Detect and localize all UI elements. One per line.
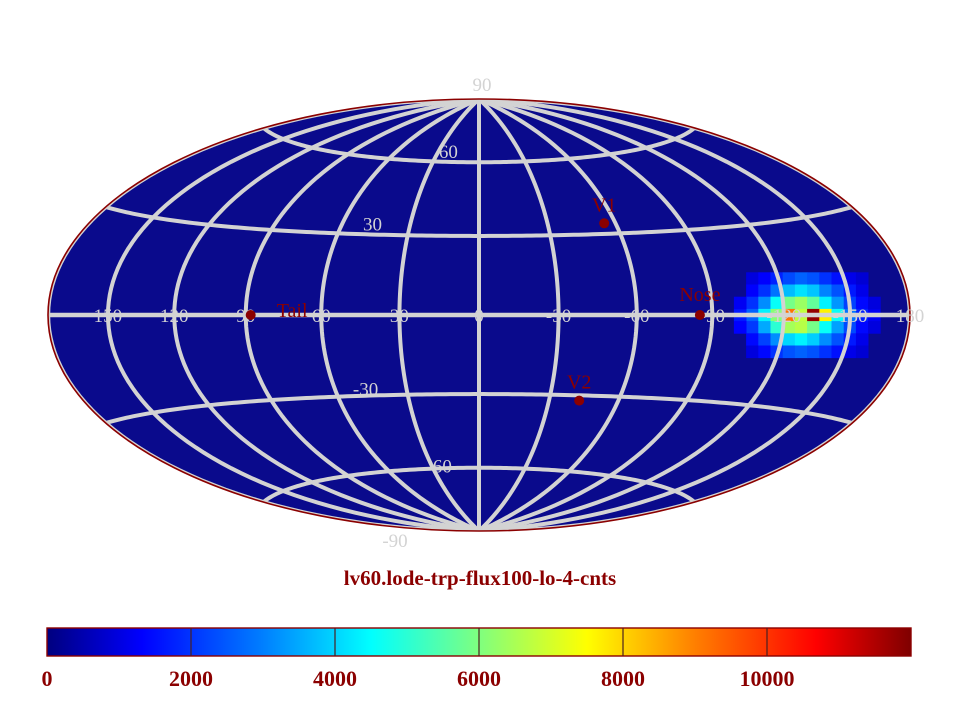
heatmap-cell	[746, 297, 759, 310]
heatmap-cell	[819, 297, 832, 310]
latitude-tick-label-north: 90	[473, 75, 492, 96]
heatmap-cell	[807, 297, 820, 310]
heatmap-cell	[734, 297, 747, 310]
heatmap-cell	[856, 346, 869, 359]
colorbar-tick-label: 2000	[169, 666, 213, 692]
heatmap-cell	[807, 333, 820, 346]
heatmap-cell	[819, 321, 832, 334]
marker-dot-icon	[574, 396, 584, 406]
colorbar[interactable]: 0200040006000800010000	[0, 618, 960, 720]
marker-dot-icon	[599, 218, 609, 228]
heatmap-cell	[746, 333, 759, 346]
heatmap-cell	[868, 321, 881, 334]
heatmap-cell	[819, 272, 832, 285]
marker-label: V2	[567, 372, 591, 394]
heatmap-cell	[795, 333, 808, 346]
heatmap-cell	[856, 333, 869, 346]
longitude-tick-label: 150	[94, 306, 123, 327]
colorbar-tick-label: 8000	[601, 666, 645, 692]
heatmap-cell	[758, 285, 771, 298]
page-title: lv60.lode-trp-flux100-lo-4-cnts	[0, 566, 960, 591]
heatmap-cell	[832, 285, 845, 298]
heatmap-cell	[795, 285, 808, 298]
heatmap-cell	[807, 321, 820, 334]
heatmap-cell	[868, 297, 881, 310]
heatmap-cell	[795, 272, 808, 285]
latitude-tick-label-south: -90	[382, 531, 407, 552]
heatmap-cell	[758, 272, 771, 285]
longitude-tick-label: -30	[546, 306, 571, 327]
heatmap-cell	[746, 272, 759, 285]
heatmap-cell	[746, 321, 759, 334]
heatmap-cell	[856, 285, 869, 298]
marker-dot-icon	[695, 310, 705, 320]
heatmap-cell	[783, 285, 796, 298]
latitude-tick-label: 30	[363, 215, 382, 236]
heatmap-cell	[807, 346, 820, 359]
marker-dot-icon	[246, 310, 256, 320]
heatmap-cell	[783, 333, 796, 346]
longitude-tick-label: 60	[312, 306, 331, 327]
longitude-tick-label: 180	[896, 306, 925, 327]
heatmap-cell	[807, 272, 820, 285]
heatmap-cell	[746, 285, 759, 298]
latitude-tick-label: -30	[353, 380, 378, 401]
latitude-tick-label: 60	[439, 142, 458, 163]
longitude-tick-label: 30	[390, 306, 409, 327]
colorbar-tick-label: 0	[42, 666, 53, 692]
heatmap-cell	[758, 346, 771, 359]
colorbar-tick-label: 10000	[740, 666, 795, 692]
figure-canvas: 60300-30-60-90-120-150180150120906030-30…	[0, 0, 960, 720]
marker-label: Tail	[277, 300, 308, 322]
longitude-tick-label: -120	[766, 306, 801, 327]
marker-label: V1	[592, 194, 616, 216]
marker-label: Nose	[679, 284, 720, 306]
heatmap-cell	[758, 333, 771, 346]
heatmap-cell	[819, 346, 832, 359]
heatmap-cell	[795, 346, 808, 359]
longitude-tick-label: 0	[474, 306, 484, 327]
longitude-tick-label: -60	[624, 306, 649, 327]
heatmap-cell	[819, 285, 832, 298]
heatmap-cell	[746, 346, 759, 359]
heatmap-cell	[783, 272, 796, 285]
colorbar-tick-label: 4000	[313, 666, 357, 692]
heatmap-cell	[832, 333, 845, 346]
heatmap-cell	[734, 321, 747, 334]
heatmap-cell	[783, 346, 796, 359]
sky-map-plot[interactable]: 60300-30-60-90-120-150180150120906030-30…	[0, 0, 960, 560]
colorbar-tick-label: 6000	[457, 666, 501, 692]
heatmap-cell	[856, 272, 869, 285]
heatmap-cell	[807, 285, 820, 298]
latitude-tick-label: -60	[427, 456, 452, 477]
heatmap-cell	[819, 333, 832, 346]
longitude-tick-label: -150	[833, 306, 868, 327]
longitude-tick-label: 120	[160, 306, 189, 327]
